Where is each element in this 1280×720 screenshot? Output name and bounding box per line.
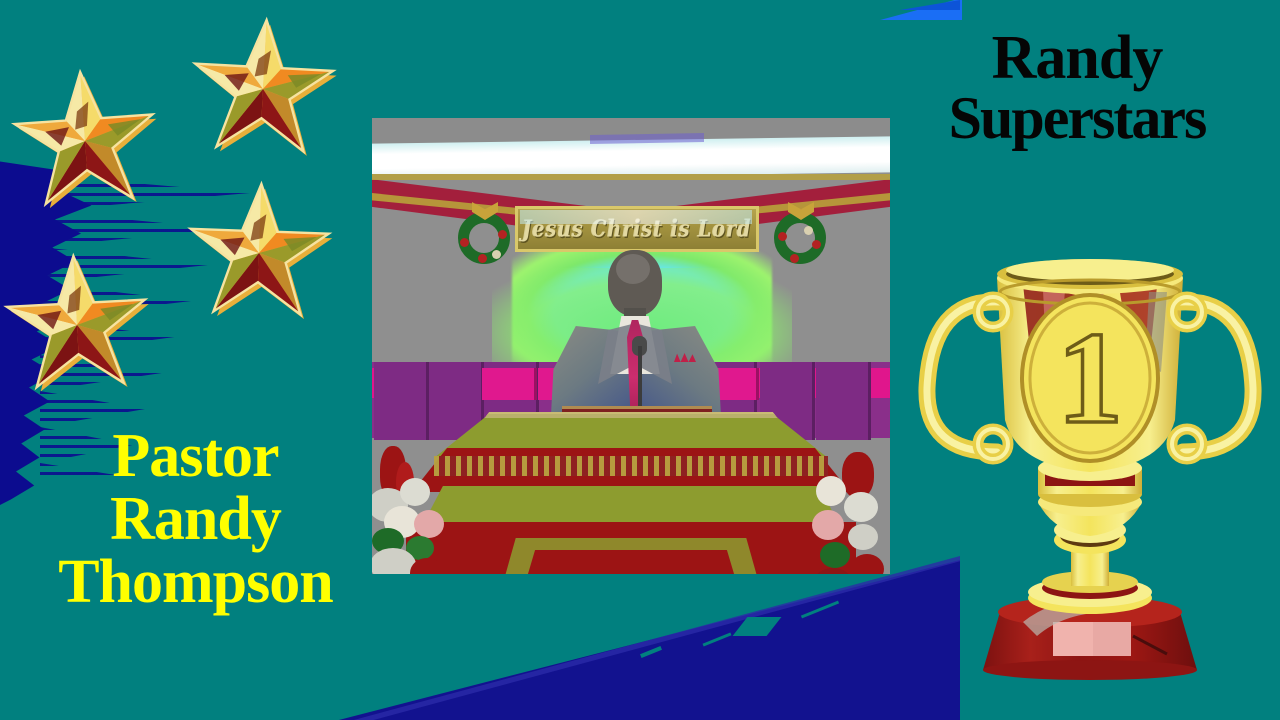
- wreath-berry: [790, 254, 799, 263]
- photo-rail: [372, 174, 890, 180]
- poster-title-right: Randy Superstars: [892, 28, 1262, 148]
- gold-trophy: 1: [905, 240, 1275, 680]
- flower-bloom: [844, 492, 878, 522]
- poster-canvas: Jesus Christ is Lord: [0, 0, 1280, 720]
- photo-pastor-head-highlight: [616, 254, 650, 284]
- wreath-berry: [492, 250, 501, 259]
- photo-banner-shine: [520, 210, 752, 224]
- flower-bloom: [848, 524, 878, 550]
- star-icon: [5, 61, 165, 221]
- flower-bloom-pink: [812, 510, 844, 540]
- christmas-wreath-right: [770, 204, 830, 266]
- gold-star-1: [5, 61, 165, 221]
- title-left-line2: Randy: [8, 488, 383, 551]
- gold-star-3: [181, 175, 336, 330]
- wreath-berry: [812, 240, 821, 249]
- flower-bloom: [400, 478, 430, 506]
- blue-sliver-top-inner: [900, 0, 960, 10]
- title-right-line2: Superstars: [892, 89, 1262, 148]
- title-right-line1: Randy: [892, 28, 1262, 89]
- poster-title-left: Pastor Randy Thompson: [8, 425, 383, 615]
- title-left-line1: Pastor: [8, 425, 383, 488]
- star-icon: [184, 10, 342, 168]
- wreath-berry: [804, 226, 813, 235]
- photo-flowers-left: [372, 448, 476, 574]
- gold-star-2: [184, 10, 342, 168]
- photo-flowers-right: [786, 458, 890, 574]
- star-icon: [0, 246, 156, 404]
- photo-pulpit-panel-inner: [522, 550, 740, 574]
- flower-bloom-red: [850, 554, 884, 574]
- gold-star-4: [0, 246, 156, 404]
- wreath-berry: [460, 238, 469, 247]
- photo-pew-seat: [816, 362, 871, 440]
- photo-pulpit-band: [422, 486, 840, 526]
- title-left-line3: Thompson: [8, 551, 383, 614]
- photo-pulpit-carving: [434, 456, 828, 476]
- flower-leaf: [820, 542, 850, 568]
- christmas-wreath-left: [454, 204, 514, 266]
- flower-bloom-red: [814, 568, 852, 574]
- photo-pew-seat: [482, 368, 537, 400]
- flower-spike: [842, 452, 874, 498]
- wreath-berry: [778, 232, 787, 241]
- wreath-berry: [498, 230, 507, 239]
- wreath-berry: [478, 254, 487, 263]
- pastor-photo: Jesus Christ is Lord: [372, 118, 890, 574]
- flower-bloom: [816, 476, 846, 506]
- flower-bloom-pink: [414, 510, 444, 538]
- trophy-icon: 1: [905, 240, 1275, 680]
- trophy-number: 1: [1057, 304, 1123, 451]
- star-icon: [181, 175, 336, 330]
